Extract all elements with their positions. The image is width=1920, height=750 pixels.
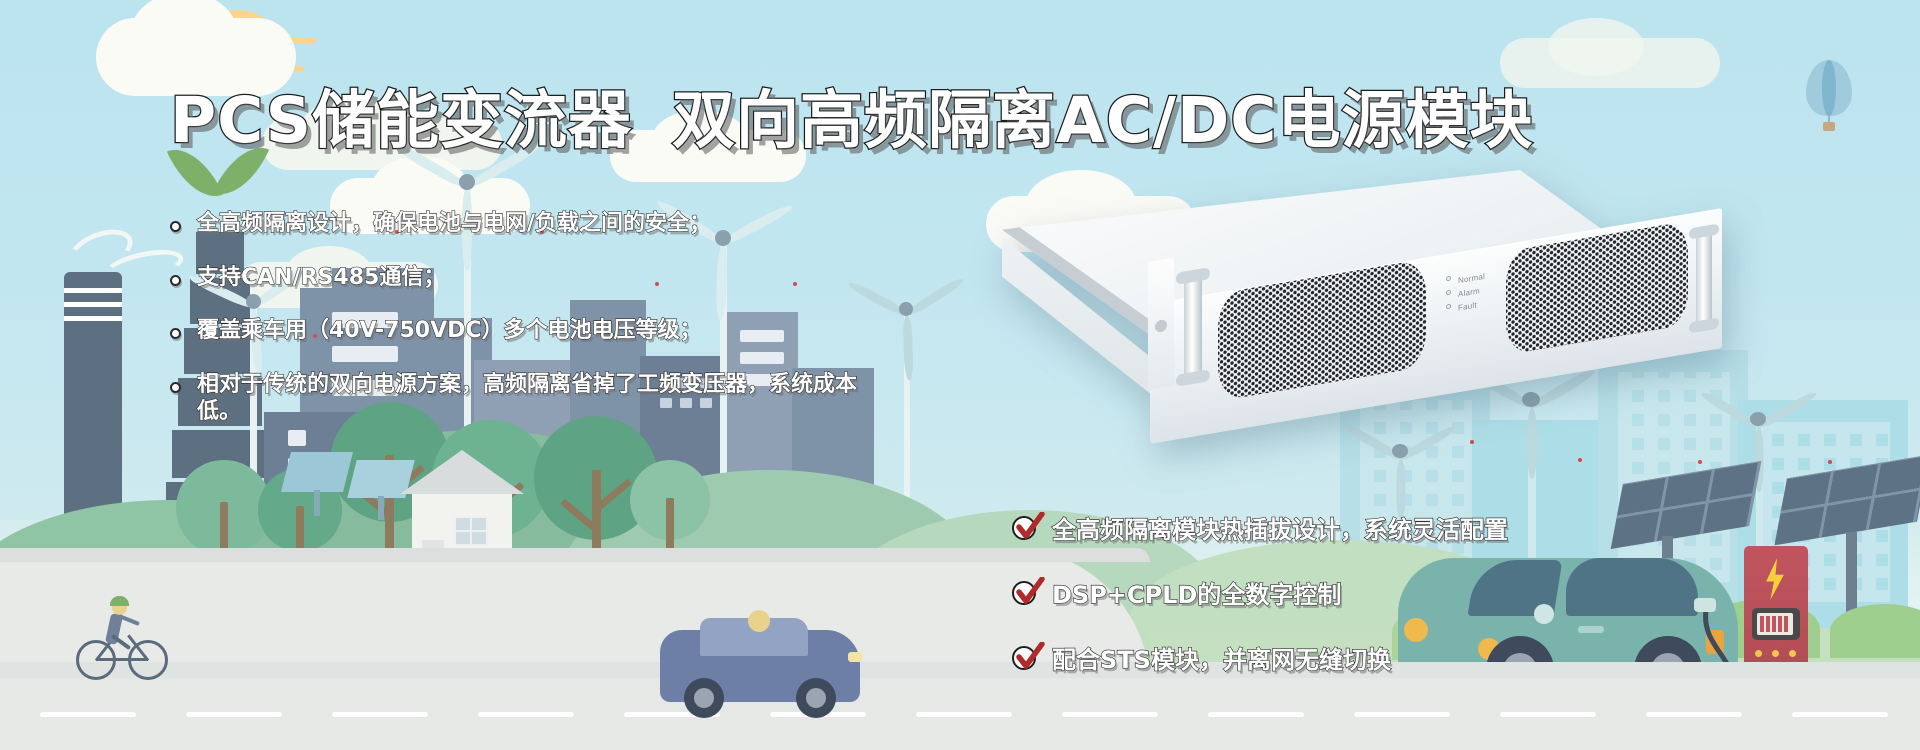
road-dash	[1500, 712, 1596, 717]
road-dash	[40, 712, 136, 717]
turbine-red-tip	[1828, 460, 1832, 464]
ev-car-window	[1566, 558, 1698, 616]
road-dash	[1208, 712, 1304, 717]
solar-panel-leg	[314, 490, 320, 516]
highlight-text: 全高频隔离模块热插拔设计，系统灵活配置	[1052, 510, 1508, 545]
blue-car-driver	[748, 610, 770, 632]
bullet-dot-icon	[170, 328, 181, 339]
blue-car-hubcap	[694, 688, 714, 708]
feature-text: 全高频隔离设计，确保电池与电网/负载之间的安全；	[197, 210, 711, 238]
feature-list: 全高频隔离设计，确保电池与电网/负载之间的安全； 支持CAN/RS485通信； …	[170, 210, 930, 452]
solar-panel-leg	[378, 496, 384, 520]
battery-bar	[1778, 616, 1782, 632]
road-dash	[1062, 712, 1158, 717]
title-right: 双向高频隔离AC/DC电源模块	[672, 84, 1534, 157]
turbine-red-tip	[1698, 460, 1702, 464]
check-circle-icon	[1012, 644, 1040, 672]
solar-panel	[281, 452, 353, 492]
chimney-band	[64, 316, 122, 321]
bullet-dot-icon	[170, 275, 181, 286]
bullet-dot-icon	[170, 382, 181, 393]
highlight-item: DSP+CPLD的全数字控制	[1012, 575, 1508, 610]
highlight-text: 配合STS模块，并离网无缝切换	[1052, 640, 1391, 675]
check-tick	[1015, 577, 1045, 607]
charger-indicator	[1789, 650, 1796, 657]
feature-item: 支持CAN/RS485通信；	[170, 264, 930, 292]
feature-item: 全高频隔离设计，确保电池与电网/负载之间的安全；	[170, 210, 930, 238]
title-left: PCS储能变流器	[170, 84, 632, 157]
bullet-dot-icon	[170, 221, 181, 232]
check-circle-icon	[1012, 579, 1040, 607]
turbine-hub	[1750, 412, 1766, 426]
chimney-band	[64, 302, 122, 307]
road-dash	[478, 712, 574, 717]
road-dash	[1792, 712, 1888, 717]
battery-tip	[1793, 620, 1797, 629]
house-roof	[400, 450, 524, 494]
device-handle-right[interactable]	[1696, 229, 1712, 328]
road-dash	[1646, 712, 1742, 717]
ev-car-mirror	[1534, 604, 1554, 624]
check-tick	[1015, 512, 1045, 542]
turbine-red-tip	[1578, 458, 1582, 462]
turbine-red-tip	[1470, 440, 1474, 444]
chimney-band	[64, 288, 122, 293]
road-dash	[1354, 712, 1450, 717]
highlight-list: 全高频隔离模块热插拔设计，系统灵活配置 DSP+CPLD的全数字控制 配合STS…	[1012, 510, 1508, 705]
promo-banner: Normal Alarm Fault PCS储能变流器双向高频隔离AC/DC电源…	[0, 0, 1920, 750]
charger-indicator	[1772, 650, 1779, 657]
balloon-basket	[1823, 122, 1835, 131]
feature-item: 相对于传统的双向电源方案，高频隔离省掉了工频变压器，系统成本低。	[170, 371, 870, 426]
highlight-item: 全高频隔离模块热插拔设计，系统灵活配置	[1012, 510, 1508, 545]
balloon-stripe	[1822, 60, 1836, 116]
battery-bar	[1760, 616, 1764, 632]
battery-bar	[1772, 616, 1776, 632]
blue-car-hubcap	[806, 688, 826, 708]
battery-bar	[1784, 616, 1788, 632]
bush	[1830, 604, 1920, 658]
feature-text: 相对于传统的双向电源方案，高频隔离省掉了工频变压器，系统成本低。	[197, 371, 870, 426]
highlight-item: 配合STS模块，并离网无缝切换	[1012, 640, 1508, 675]
page-title: PCS储能变流器双向高频隔离AC/DC电源模块	[170, 70, 1534, 161]
feature-text: 覆盖乘车用（40V-750VDC）多个电池电压等级；	[197, 317, 702, 345]
highlight-text: DSP+CPLD的全数字控制	[1052, 575, 1341, 610]
turbine-hub	[459, 174, 475, 190]
product-device: Normal Alarm Fault	[960, 170, 1720, 430]
road-dash	[332, 712, 428, 717]
feature-text: 支持CAN/RS485通信；	[197, 264, 445, 292]
feature-item: 覆盖乘车用（40V-750VDC）多个电池电压等级；	[170, 317, 930, 345]
check-tick	[1015, 642, 1045, 672]
turbine-hub	[1392, 444, 1408, 458]
charger-indicator	[1755, 650, 1762, 657]
blue-car-headlight	[848, 652, 862, 662]
charging-plug	[1694, 598, 1716, 612]
ev-car-door-handle	[1578, 626, 1604, 633]
check-circle-icon	[1012, 514, 1040, 542]
road-curve-top	[0, 548, 1150, 562]
road-dash	[186, 712, 282, 717]
cyclist-helmet	[110, 596, 129, 606]
road-dash	[916, 712, 1012, 717]
device-handle-left[interactable]	[1184, 272, 1202, 381]
house-window-divider	[454, 530, 488, 532]
cloud	[1548, 18, 1644, 76]
battery-bar	[1766, 616, 1770, 632]
bicycle-frame	[96, 658, 148, 661]
road-edge	[0, 662, 1920, 678]
